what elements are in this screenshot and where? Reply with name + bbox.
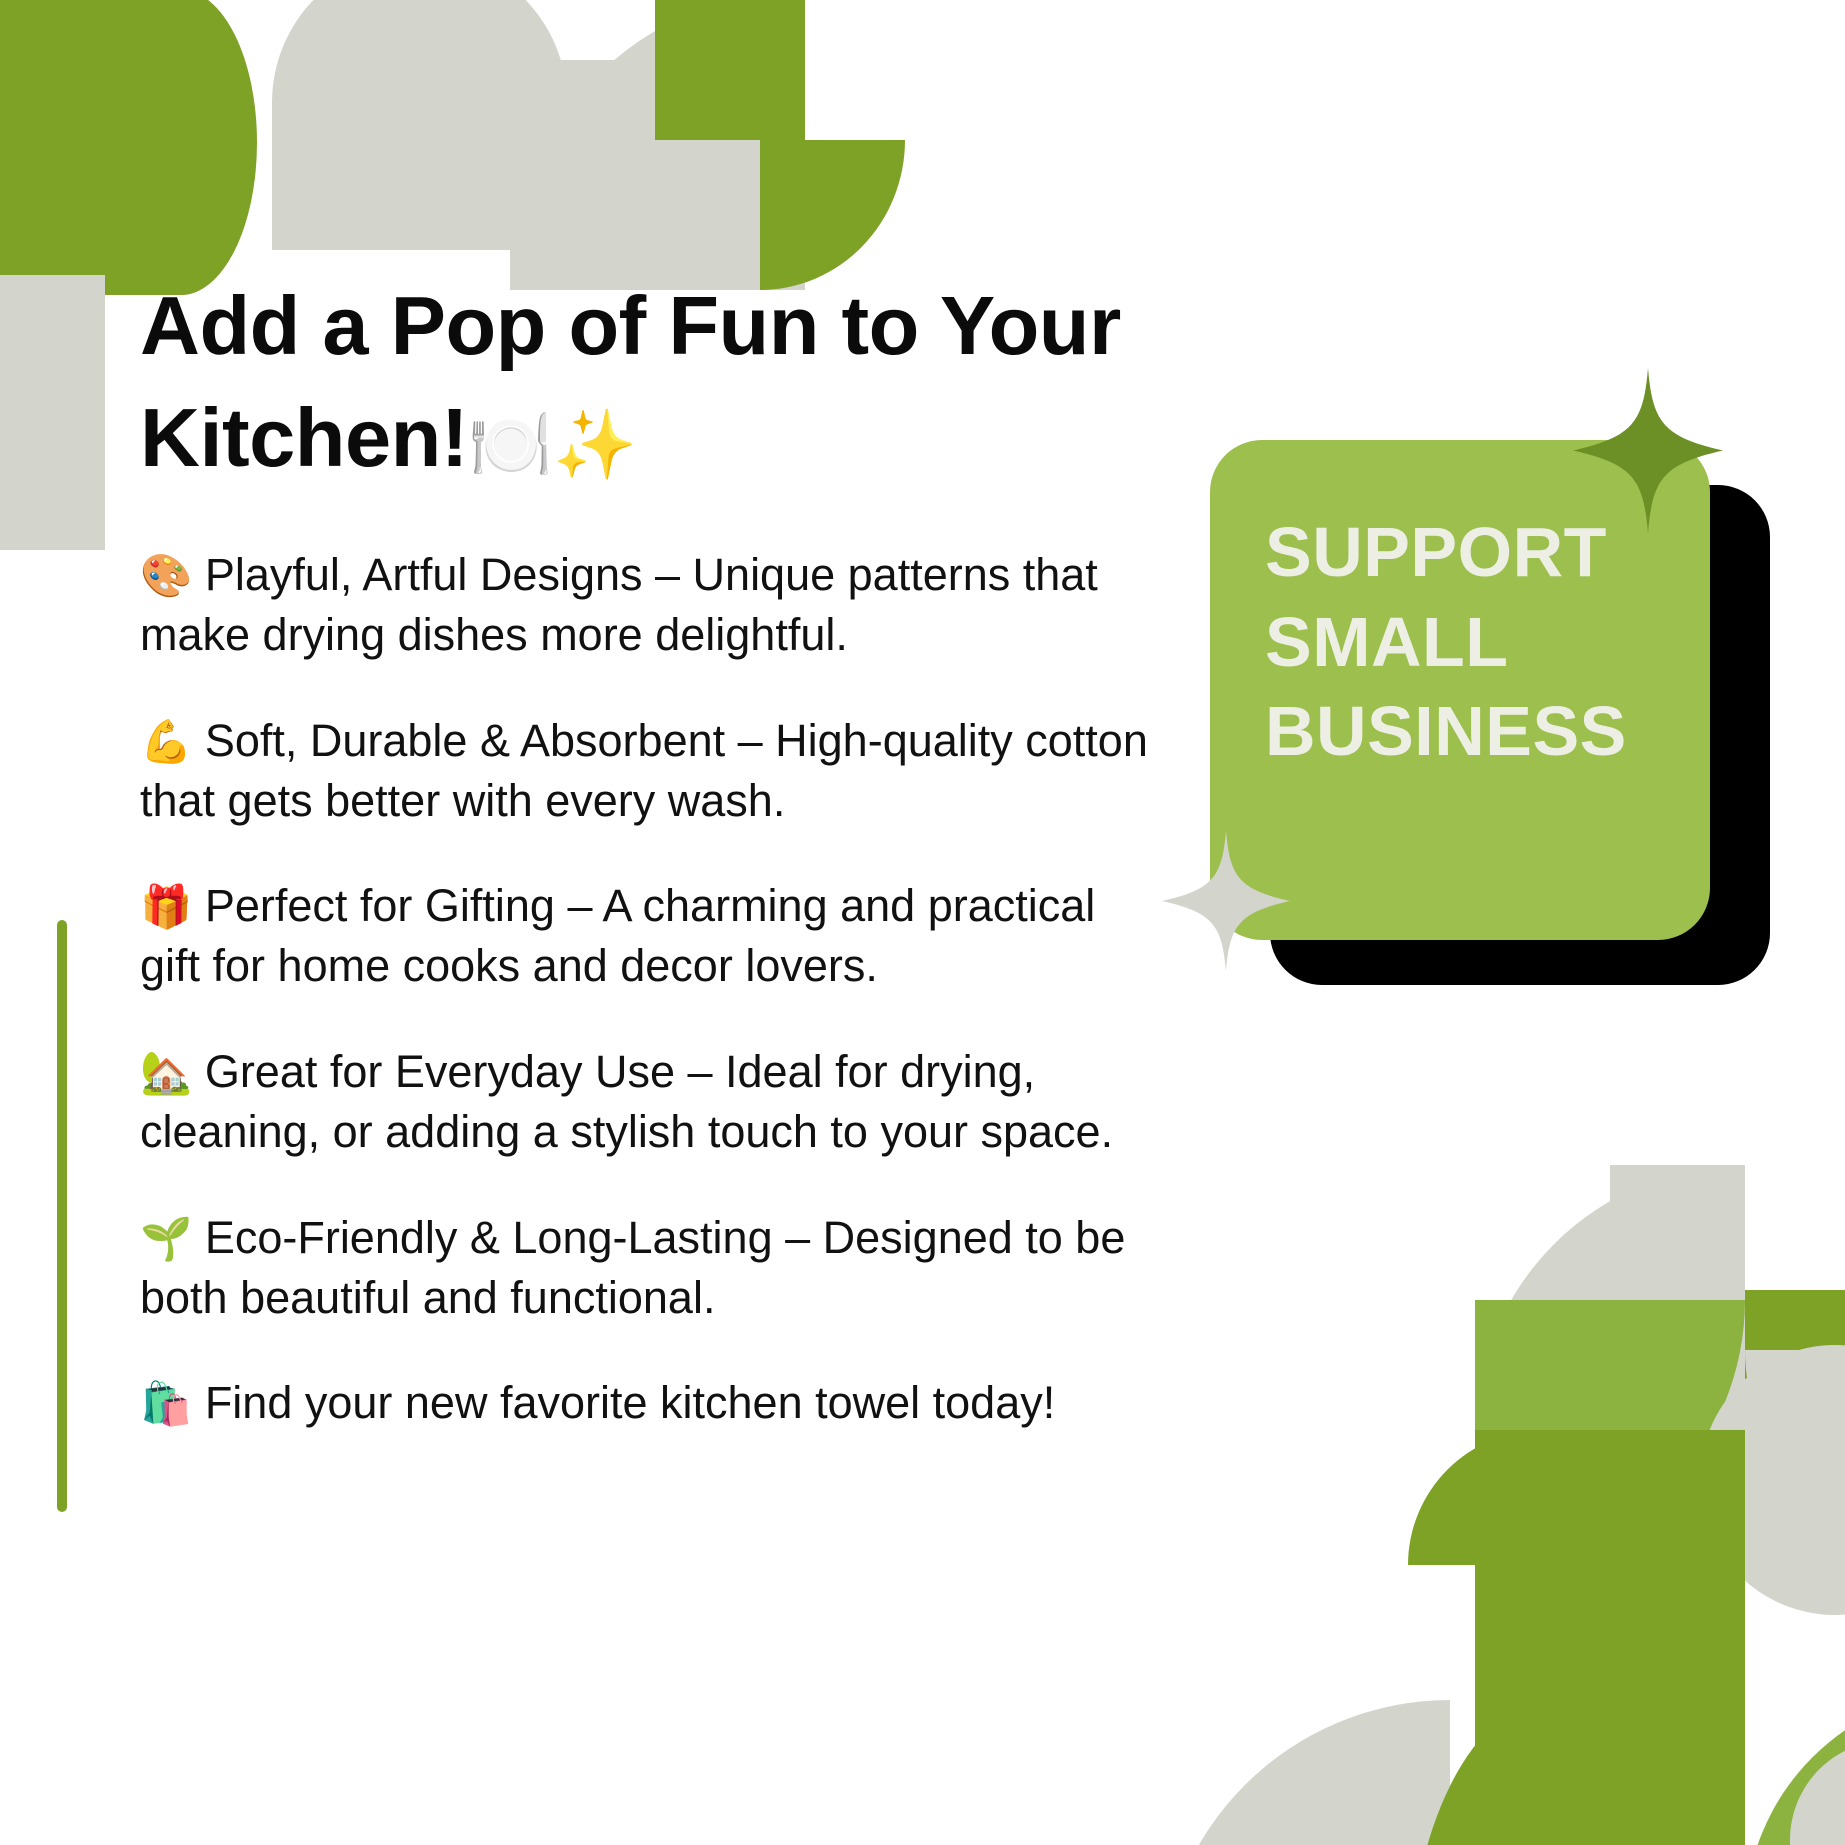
list-item-text: Find your new favorite kitchen towel tod… [205,1377,1055,1428]
list-item: 🎨 Playful, Artful Designs – Unique patte… [140,545,1160,665]
benefits-list: 🎨 Playful, Artful Designs – Unique patte… [140,545,1160,1433]
flexed-biceps-icon: 💪 [140,718,192,765]
list-item-text: Eco-Friendly & Long-Lasting – Designed t… [140,1212,1125,1323]
deco-green-square-bottomright-a [1475,1300,1610,1435]
list-item: 🌱 Eco-Friendly & Long-Lasting – Designed… [140,1208,1160,1328]
house-with-garden-icon: 🏡 [140,1049,192,1096]
deco-green-quarter-top-b [760,140,905,290]
wrapped-gift-icon: 🎁 [140,883,192,930]
deco-green-half-circle-top-second [105,0,257,295]
headline-line-1: Add a Pop of Fun to Your [140,279,1121,372]
badge-line-3: BUSINESS [1265,687,1695,777]
list-item: 🏡 Great for Everyday Use – Ideal for dry… [140,1042,1160,1162]
list-item-text: Perfect for Gifting – A charming and pra… [140,880,1095,991]
list-item-text: Great for Everyday Use – Ideal for dryin… [140,1046,1113,1157]
badge-line-2: SMALL [1265,598,1695,688]
list-item: 💪 Soft, Durable & Absorbent – High-quali… [140,711,1160,831]
sparkle-icon-bottomleft [1162,830,1290,972]
deco-green-quarter-bottomright-b [1408,1430,1543,1565]
list-item: 🛍️ Find your new favorite kitchen towel … [140,1373,1160,1433]
headline-line-2: Kitchen! [140,391,468,484]
deco-gray-quarter-bottom-center [1160,1700,1450,1845]
promo-poster: SUPPORT SMALL BUSINESS Add a Pop of Fun … [0,0,1845,1845]
shopping-bags-icon: 🛍️ [140,1380,192,1427]
badge-text-block: SUPPORT SMALL BUSINESS [1265,508,1695,777]
deco-gray-square-left [0,275,105,550]
sparkle-icon-topright [1573,368,1723,533]
artist-palette-icon: 🎨 [140,552,192,599]
list-item: 🎁 Perfect for Gifting – A charming and p… [140,876,1160,996]
support-small-business-badge[interactable]: SUPPORT SMALL BUSINESS [1210,440,1780,1000]
deco-green-square-top-a [655,0,805,140]
list-item-text: Playful, Artful Designs – Unique pattern… [140,549,1098,660]
seedling-icon: 🌱 [140,1215,192,1262]
list-item-text: Soft, Durable & Absorbent – High-quality… [140,715,1148,826]
dinner-plate-sparkles-icon: 🍽️✨ [468,407,637,483]
deco-green-square-bottom-center [1475,1700,1745,1845]
accent-rule [57,920,67,1512]
page-title: Add a Pop of Fun to Your Kitchen!🍽️✨ [140,270,1320,494]
